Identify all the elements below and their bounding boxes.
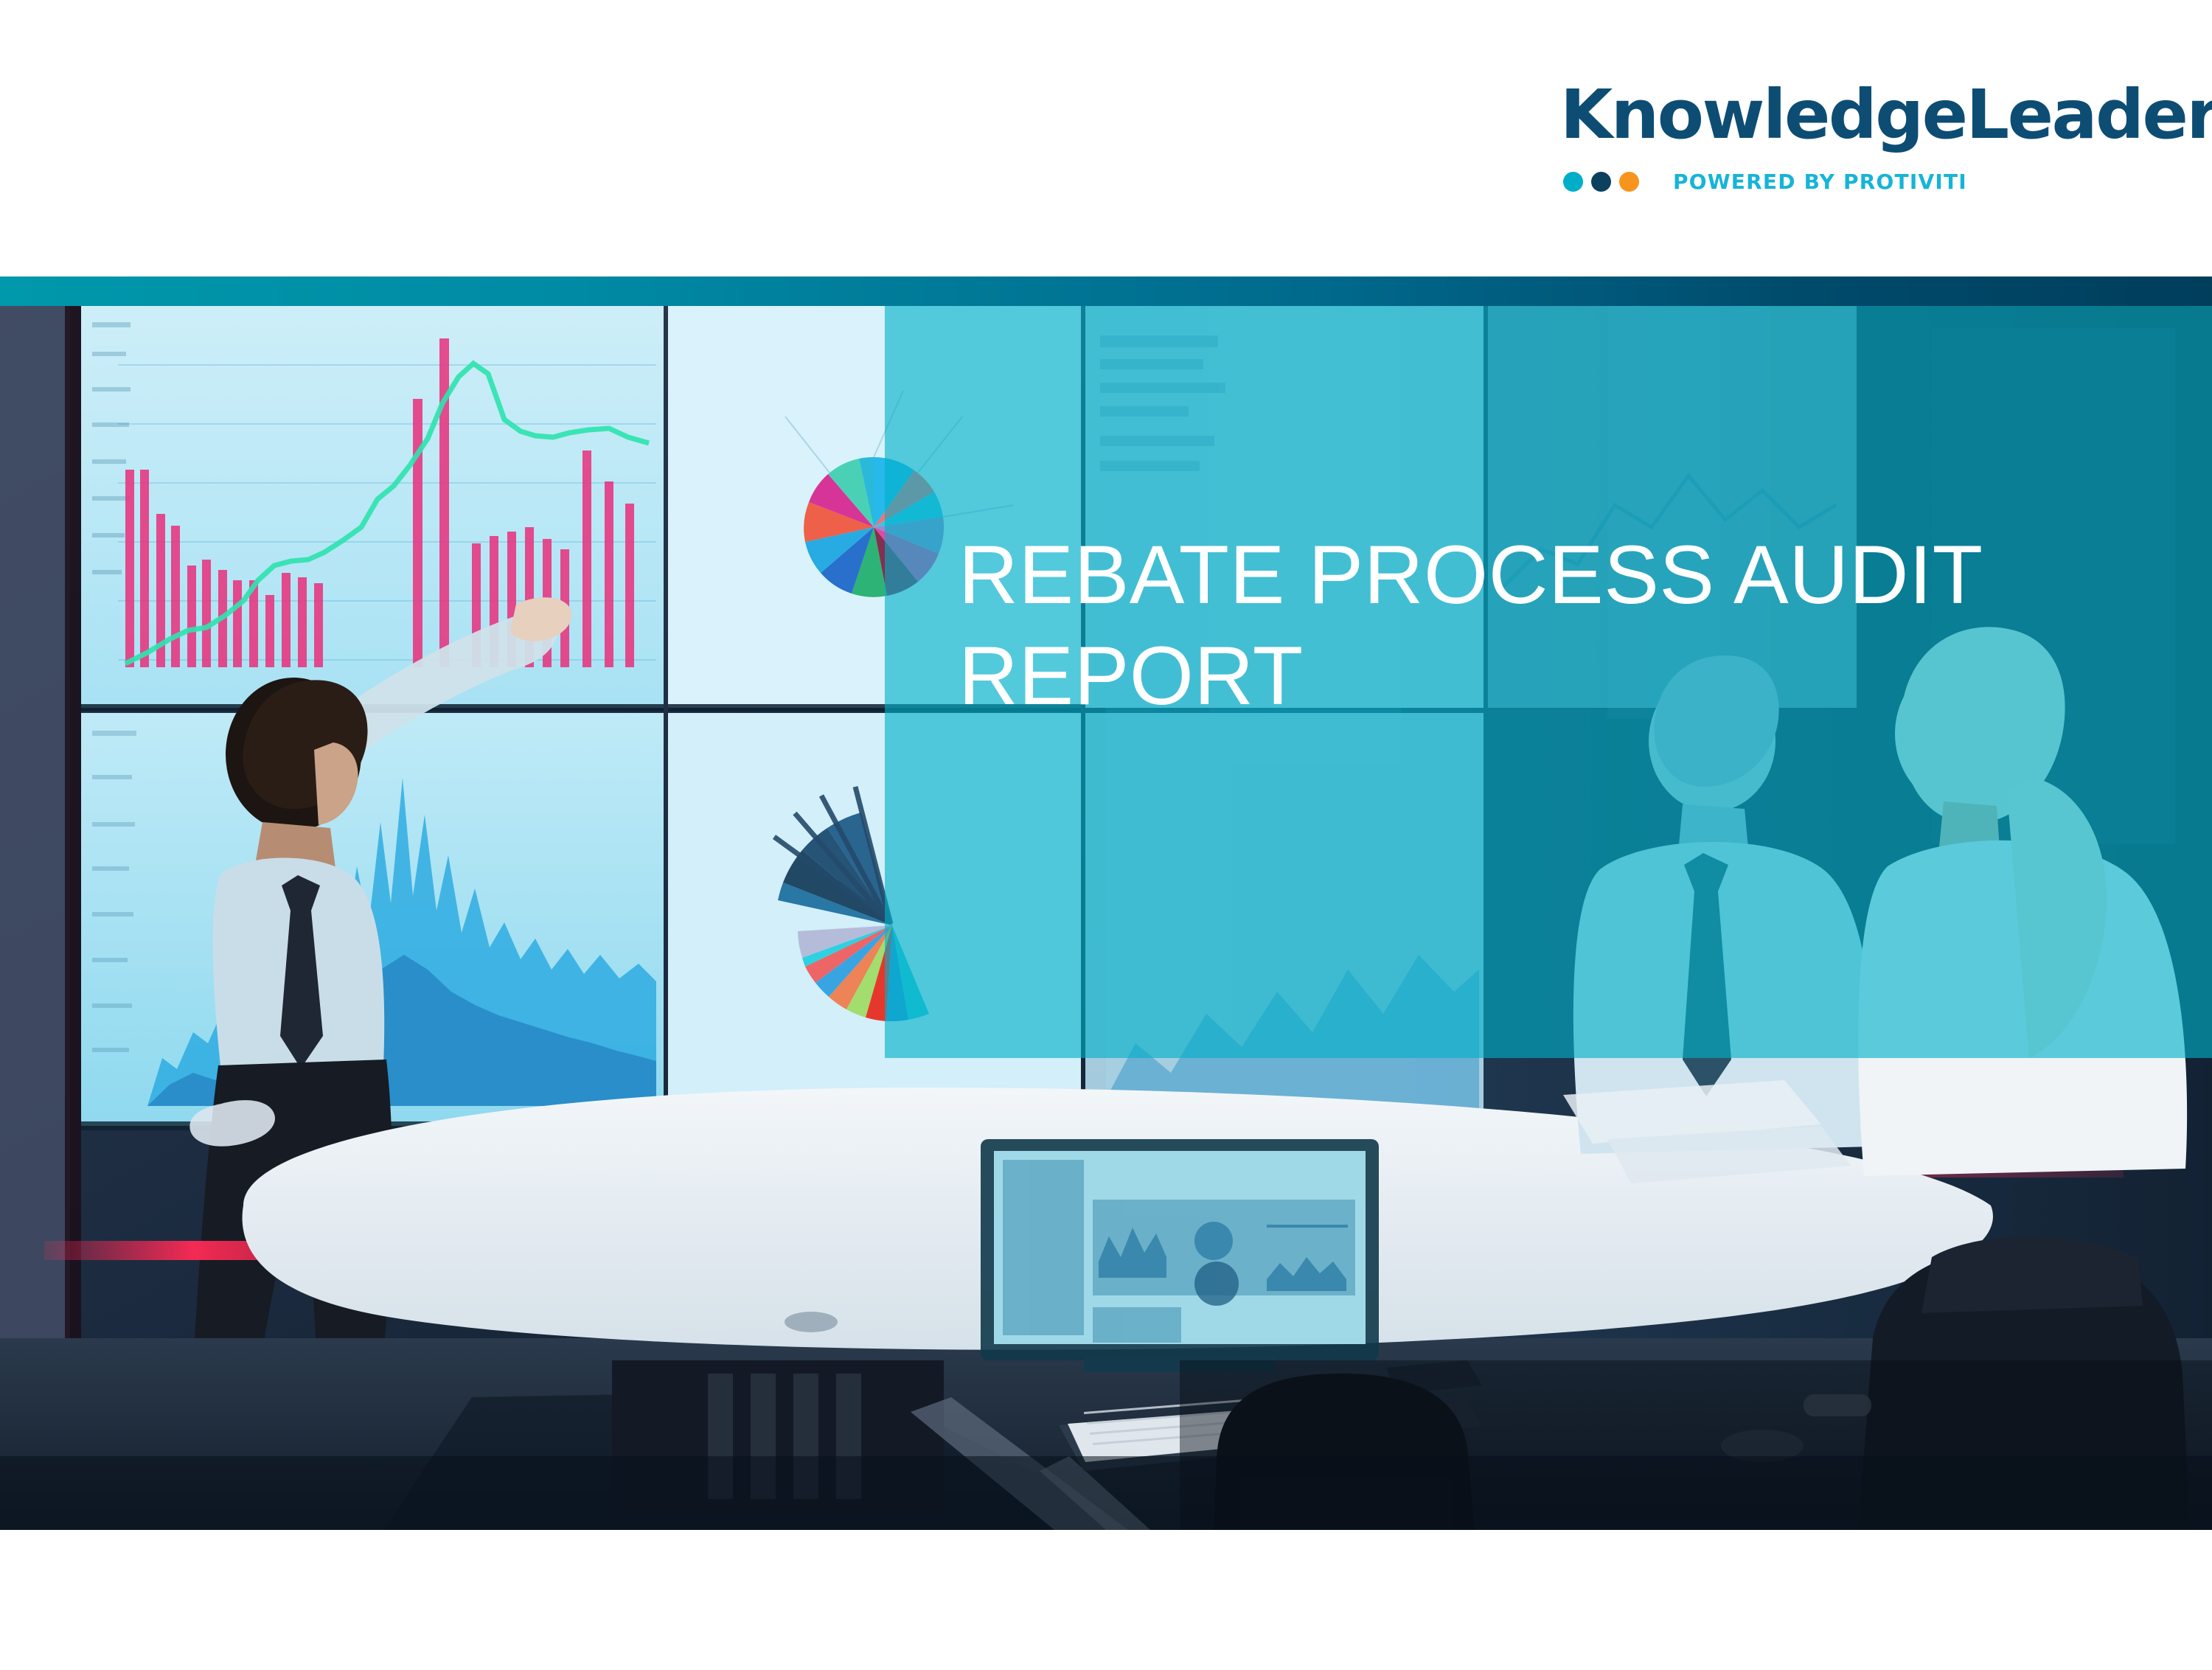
table-grommet — [785, 1312, 838, 1332]
accent-gradient-bar — [0, 276, 2212, 306]
brand-dot-orange-icon — [1619, 172, 1639, 192]
brand-dots — [1563, 172, 1639, 192]
page-footer — [0, 1530, 2212, 1670]
brand-wordmark: KnowledgeLeader® — [1560, 81, 2212, 149]
brand-tagline: POWERED BY PROTIVITI — [1673, 170, 1967, 194]
brand-dot-cyan-icon — [1563, 172, 1583, 192]
desktop-monitor — [981, 1139, 1379, 1372]
page-header: KnowledgeLeader® POWERED BY PROTIVITI — [0, 0, 2212, 276]
videowall-screen-pie-bottom — [668, 713, 1081, 1130]
brand-logo: KnowledgeLeader® POWERED BY PROTIVITI — [1560, 81, 2121, 195]
brand-dot-navy-icon — [1591, 172, 1611, 192]
brand-tagline-row: POWERED BY PROTIVITI — [1560, 168, 2121, 195]
videowall-screen-bars — [81, 306, 664, 712]
hero-illustration — [0, 306, 2212, 1530]
page-title: REBATE PROCESS AUDIT REPORT — [959, 525, 2109, 726]
cover-hero-photo — [0, 306, 2212, 1530]
brand-wordmark-text: KnowledgeLeader — [1560, 75, 2212, 154]
